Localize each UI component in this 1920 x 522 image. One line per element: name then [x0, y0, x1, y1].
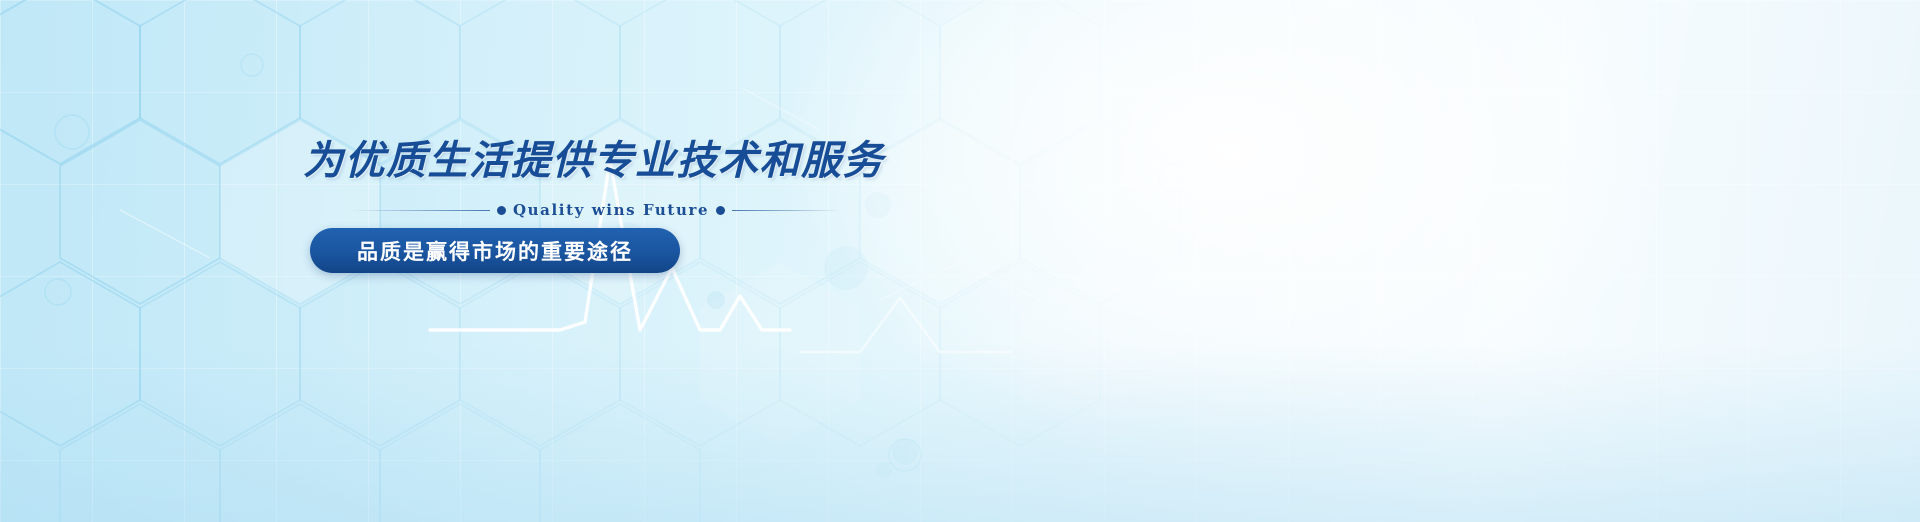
page-title: 为优质生活提供专业技术和服务	[303, 128, 884, 186]
slogan-pill-button[interactable]: 品质是赢得市场的重要途径	[310, 228, 680, 273]
divider-dot-right-icon	[716, 206, 725, 215]
divider-dot-left-icon	[497, 206, 506, 215]
tagline-divider: Quality wins Future	[350, 202, 802, 218]
medical-hero-banner: 为优质生活提供专业技术和服务 Quality wins Future 品质是赢得…	[0, 0, 1920, 522]
slogan-pill-label: 品质是赢得市场的重要途径	[357, 236, 633, 266]
tagline-en: Quality wins Future	[513, 201, 709, 219]
banner-content: 为优质生活提供专业技术和服务 Quality wins Future 品质是赢得…	[0, 0, 860, 522]
divider-rule-left	[350, 210, 490, 211]
divider-rule-right	[732, 210, 842, 211]
